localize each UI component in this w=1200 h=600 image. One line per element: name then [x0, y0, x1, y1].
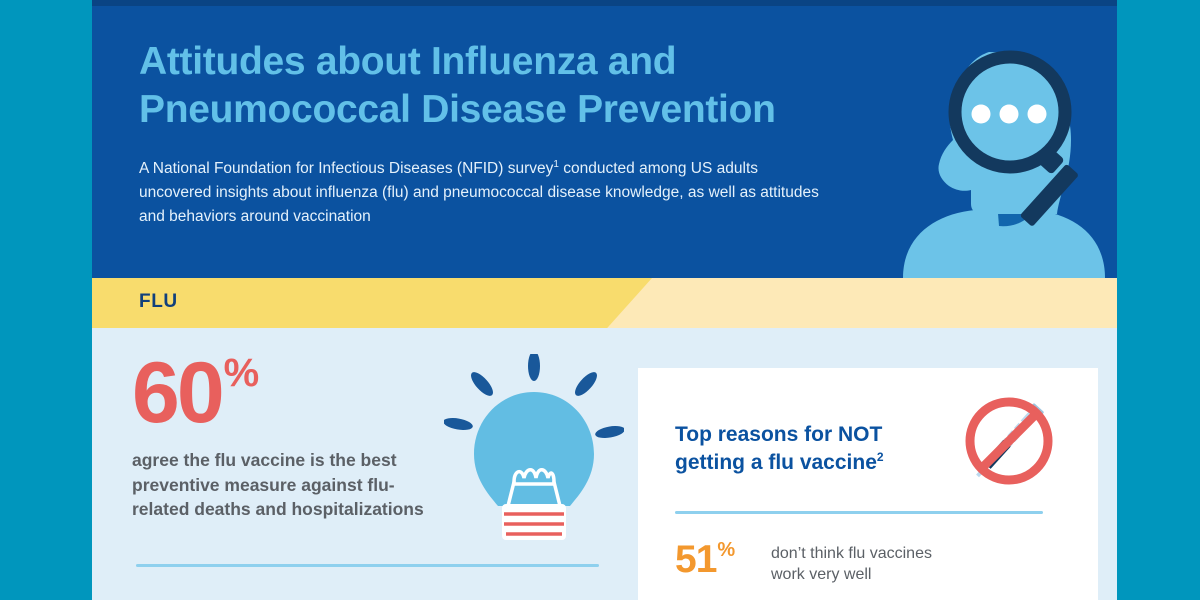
- right-teal-margin: [1117, 0, 1200, 600]
- reason-percent-symbol: %: [717, 540, 734, 561]
- list-item: 51% don’t think flu vaccines work very w…: [675, 540, 932, 585]
- content-panel: Attitudes about Influenza and Pneumococc…: [92, 0, 1117, 600]
- body-area: 60% agree the flu vaccine is the best pr…: [92, 328, 1117, 600]
- reason-text-line2: work very well: [771, 566, 871, 583]
- card-divider: [675, 511, 1043, 514]
- no-syringe-icon: [956, 388, 1062, 494]
- section-band-flu: FLU: [92, 278, 1117, 328]
- reason-percent-value: 51: [675, 540, 716, 579]
- subtitle-line1-end: conducted: [559, 160, 635, 177]
- left-teal-margin: [0, 0, 92, 600]
- head-with-magnifier-icon: [843, 0, 1113, 278]
- subtitle-line1: A National Foundation for Infectious Dis…: [139, 160, 553, 177]
- lightbulb-icon: [444, 354, 624, 544]
- stat-percent-symbol: %: [224, 350, 259, 396]
- card-top-reasons-not-vaccinating: Top reasons for NOT getting a flu vaccin…: [638, 368, 1098, 600]
- page-title-line1: Attitudes about Influenza and: [139, 40, 676, 83]
- card-title-footnote-marker: 2: [877, 450, 884, 464]
- card-title: Top reasons for NOT getting a flu vaccin…: [675, 421, 945, 477]
- stat-percent: 60%: [132, 350, 452, 436]
- page-title: Attitudes about Influenza and Pneumococc…: [139, 38, 879, 134]
- header-banner: Attitudes about Influenza and Pneumococc…: [92, 0, 1117, 278]
- infographic-page: Attitudes about Influenza and Pneumococc…: [0, 0, 1200, 600]
- left-section-divider: [136, 564, 599, 567]
- stat-percent-value: 60: [132, 350, 222, 436]
- reason-percent: 51%: [675, 540, 771, 579]
- page-title-line2: Pneumococcal Disease Prevention: [139, 86, 879, 134]
- stat-description: agree the flu vaccine is the best preven…: [132, 448, 432, 522]
- stat-block-flu-vaccine-agreement: 60% agree the flu vaccine is the best pr…: [132, 350, 452, 522]
- header-subtitle: A National Foundation for Infectious Dis…: [139, 157, 819, 229]
- reason-text-line1: don’t think flu vaccines: [771, 545, 932, 562]
- card-title-line1: Top reasons for NOT: [675, 423, 882, 446]
- section-band-label: FLU: [139, 291, 178, 313]
- reason-text: don’t think flu vaccines work very well: [771, 540, 932, 585]
- card-title-line2: getting a flu vaccine: [675, 451, 877, 474]
